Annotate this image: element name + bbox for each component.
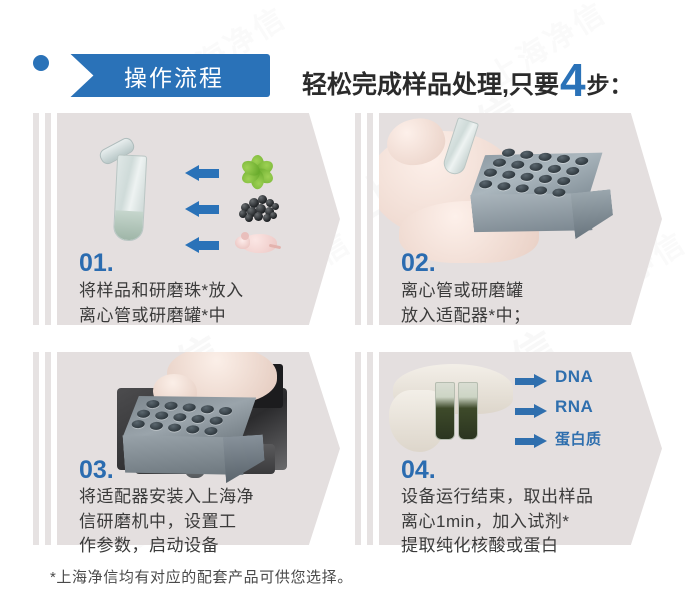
leaf-sample-icon <box>237 153 277 191</box>
arrow-right-icon <box>515 404 547 418</box>
panel-accent-bar <box>45 352 51 545</box>
step-number-03: 03. <box>79 456 114 485</box>
panel-accent-bar <box>33 113 39 325</box>
step-text-02: 离心管或研磨罐 放入适配器*中； <box>401 279 531 328</box>
grinding-beads-icon <box>237 193 281 223</box>
output-label-dna: DNA <box>555 367 593 387</box>
adapter-block-icon <box>466 141 626 256</box>
panel-accent-bar <box>367 352 373 545</box>
panel-accent-bar <box>45 113 51 325</box>
page-header: 操作流程 轻松完成样品处理,只要 4 步： <box>0 24 700 88</box>
mouse-sample-icon <box>235 229 281 255</box>
step-text-03: 将适配器安装入上海净 信研磨机中，设置工 作参数，启动设备 <box>79 485 254 559</box>
arrow-right-icon <box>515 434 547 448</box>
step-panel-02: 02. 离心管或研磨罐 放入适配器*中； <box>355 113 662 325</box>
step-panel-04: DNA RNA 蛋白质 04. 设备运行结束，取出样品 离心1min，加入试剂*… <box>355 352 662 545</box>
ribbon-title: 操作流程 <box>52 54 270 97</box>
adapter-block-icon <box>120 387 276 493</box>
arrow-left-icon <box>185 237 219 253</box>
step-text-04: 设备运行结束，取出样品 离心1min，加入试剂* 提取纯化核酸或蛋白 <box>401 485 594 559</box>
step-text-01: 将样品和研磨珠*放入 离心管或研磨罐*中 <box>79 279 244 328</box>
panel-accent-bar <box>33 352 39 545</box>
centrifuge-tube-icon <box>113 154 147 241</box>
arrow-left-icon <box>185 201 219 217</box>
infographic-root: 上海净信 上海净信 上海净信 上海净信 上海净信 上海净信 上海净信 上海净信 … <box>0 0 700 613</box>
panel-accent-bar <box>355 113 361 325</box>
headline-prefix: 轻松完成样品处理,只要 <box>302 65 559 101</box>
step-panel-01: 01. 将样品和研磨珠*放入 离心管或研磨罐*中 <box>33 113 340 325</box>
footnote: *上海净信均有对应的配套产品可供您选择。 <box>50 566 353 587</box>
headline-step-count: 4 <box>560 57 586 103</box>
ribbon-dot-icon <box>33 55 49 71</box>
step-number-04: 04. <box>401 456 436 485</box>
output-label-protein: 蛋白质 <box>555 428 602 449</box>
tube-liquid <box>114 211 143 241</box>
step-number-02: 02. <box>401 249 436 278</box>
headline-suffix: 步： <box>587 66 633 100</box>
adapter-holes <box>120 388 259 451</box>
panel-accent-bar <box>367 113 373 325</box>
arrow-right-icon <box>515 374 547 388</box>
panel-accent-bar <box>355 352 361 545</box>
step-number-01: 01. <box>79 249 114 278</box>
output-label-rna: RNA <box>555 397 593 417</box>
headline: 轻松完成样品处理,只要 4 步： <box>302 54 633 100</box>
arrow-left-icon <box>185 165 219 181</box>
step-panel-03: 03. 将适配器安装入上海净 信研磨机中，设置工 作参数，启动设备 <box>33 352 340 545</box>
sample-vials-icon <box>435 382 481 440</box>
